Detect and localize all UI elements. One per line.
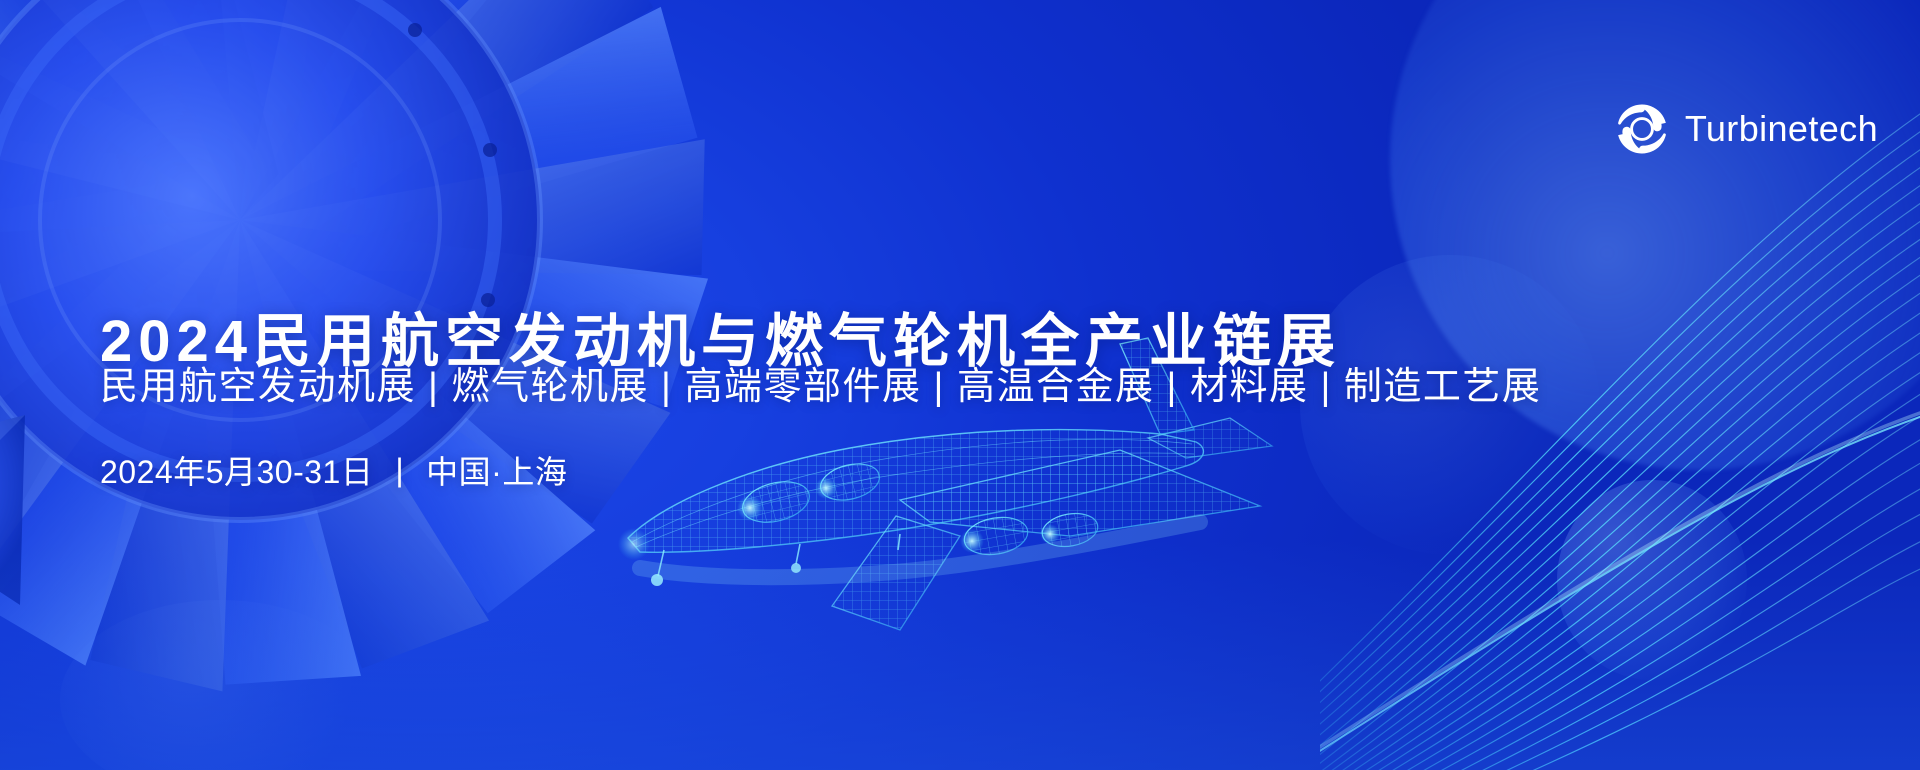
banner-content: Turbinetech 2024民用航空发动机与燃气轮机全产业链展 民用航空发动…	[0, 0, 1920, 770]
brand-logo-text: Turbinetech	[1685, 108, 1878, 150]
brand-logo[interactable]: Turbinetech	[1613, 100, 1878, 158]
date-separator: |	[373, 452, 426, 489]
exhibition-list: 民用航空发动机展 | 燃气轮机展 | 高端零部件展 | 高温合金展 | 材料展 …	[100, 355, 1541, 410]
event-location: 中国·上海	[426, 447, 567, 493]
event-date: 2024年5月30-31日	[100, 447, 373, 493]
turbine-swirl-icon	[1613, 100, 1671, 158]
expo-banner: Turbinetech 2024民用航空发动机与燃气轮机全产业链展 民用航空发动…	[0, 0, 1920, 770]
date-location-line: 2024年5月30-31日 | 中国·上海	[100, 447, 567, 493]
